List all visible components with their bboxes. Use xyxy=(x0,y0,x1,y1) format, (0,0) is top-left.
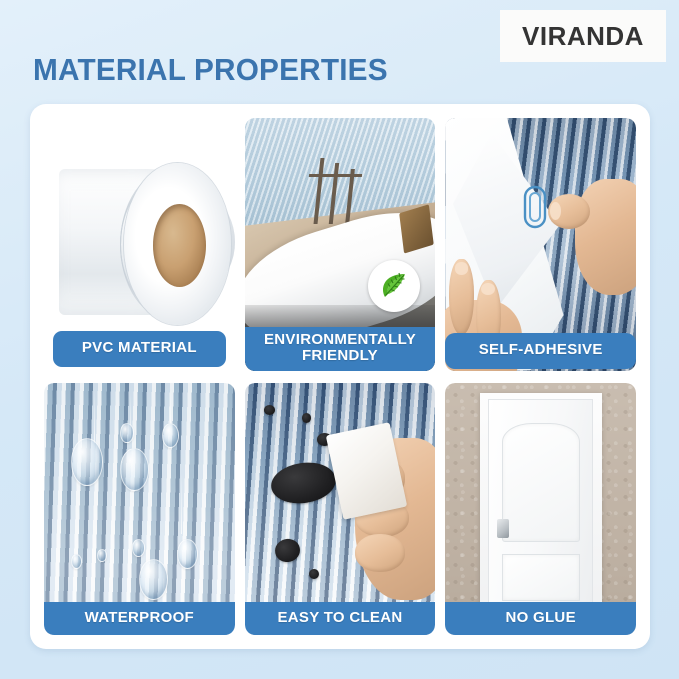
water-droplet xyxy=(162,423,179,448)
water-droplet xyxy=(120,448,149,491)
feature-label-no-glue: NO GLUE xyxy=(445,602,636,635)
stain-mark xyxy=(273,537,302,564)
water-droplet xyxy=(71,438,103,486)
door-panel-bottom xyxy=(502,554,580,600)
features-card: PVC MATERIAL xyxy=(30,104,650,649)
stain-mark xyxy=(264,405,275,415)
droplet-trail xyxy=(181,473,182,534)
brand-name: VIRANDA xyxy=(522,21,644,52)
no-glue-image xyxy=(445,383,636,636)
fingernail xyxy=(455,262,469,274)
feature-tile-easy-to-clean[interactable]: EASY TO CLEAN xyxy=(245,383,436,636)
feature-tile-no-glue[interactable]: NO GLUE xyxy=(445,383,636,636)
door-leaf xyxy=(488,399,593,612)
feature-label-line-1: ENVIRONMENTALLY xyxy=(247,332,434,348)
pier-beam xyxy=(309,174,363,177)
page-header: VIRANDA MATERIAL PROPERTIES xyxy=(0,0,679,105)
water-droplet xyxy=(177,539,198,569)
door-frame xyxy=(480,393,602,615)
page-title: MATERIAL PROPERTIES xyxy=(33,52,388,88)
feature-label-waterproof: WATERPROOF xyxy=(44,602,235,635)
feature-label-self-adhesive: SELF-ADHESIVE xyxy=(445,333,636,368)
brand-logo-box: VIRANDA xyxy=(500,10,666,62)
water-droplet xyxy=(132,539,145,557)
stain-mark xyxy=(302,413,312,423)
feature-label-environmentally-friendly: ENVIRONMENTALLY FRIENDLY xyxy=(245,327,436,370)
fingernail xyxy=(550,202,561,220)
stain-mark xyxy=(309,569,319,579)
feature-label-line-2: FRIENDLY xyxy=(247,348,434,364)
door-handle-icon xyxy=(497,519,508,538)
feature-tile-waterproof[interactable]: WATERPROOF xyxy=(44,383,235,636)
easy-to-clean-image xyxy=(245,383,436,636)
finger xyxy=(548,194,590,229)
features-grid: PVC MATERIAL xyxy=(44,118,636,635)
droplet-trail xyxy=(94,388,95,444)
water-droplet xyxy=(120,423,133,443)
feature-tile-self-adhesive[interactable]: SELF-ADHESIVE xyxy=(445,118,636,371)
cleaning-cloth xyxy=(326,422,407,519)
waterproof-image xyxy=(44,383,235,636)
feature-tile-pvc-material[interactable]: PVC MATERIAL xyxy=(44,118,235,371)
water-droplet xyxy=(71,554,82,569)
feature-tile-environmentally-friendly[interactable]: ENVIRONMENTALLY FRIENDLY xyxy=(245,118,436,371)
droplet-trail xyxy=(170,390,171,425)
stain-mark xyxy=(269,459,339,508)
feature-label-easy-to-clean: EASY TO CLEAN xyxy=(245,602,436,635)
fingernail xyxy=(481,283,495,295)
paperclip-icon xyxy=(522,184,548,230)
roll-cardboard-core xyxy=(153,204,206,287)
feature-label-pvc-material: PVC MATERIAL xyxy=(53,331,226,366)
water-droplet xyxy=(97,549,107,562)
door-panel-top xyxy=(502,423,580,541)
right-hand xyxy=(575,179,636,295)
finger xyxy=(449,259,474,335)
finger xyxy=(355,534,405,572)
water-droplet xyxy=(139,559,168,599)
